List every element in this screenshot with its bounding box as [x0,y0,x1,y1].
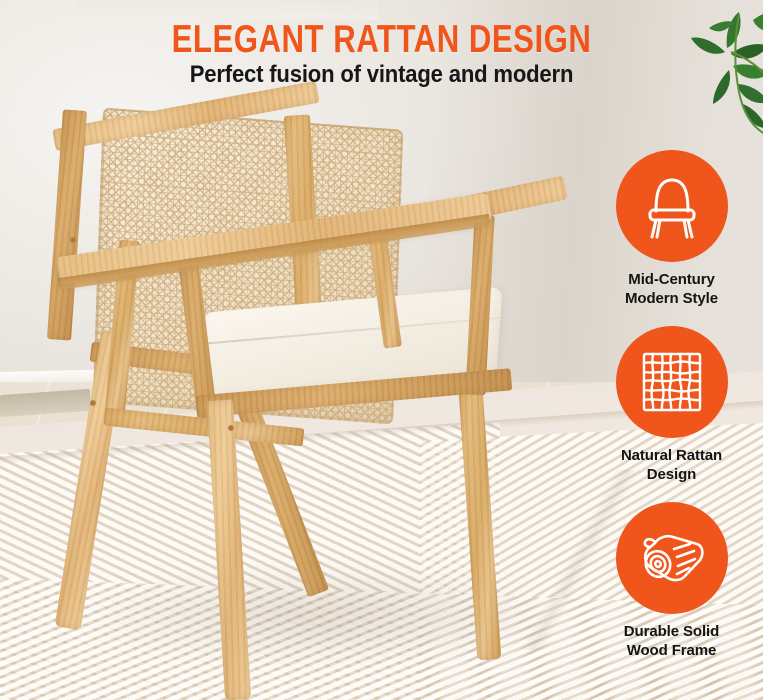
feature-badge-solid-wood[interactable]: Durable Solid Wood Frame [580,502,763,660]
feature-label-line1: Durable Solid [580,623,763,642]
wood-log-icon-circle [616,502,728,614]
feature-label-line2: Wood Frame [580,642,763,661]
feature-label-line1: Mid-Century [580,271,763,290]
feature-badge-natural-rattan[interactable]: Natural Rattan Design [580,326,763,484]
feature-badge-label: Mid-Century Modern Style [580,271,763,308]
front-left-leg-peg [90,400,96,406]
rattan-weave-icon-circle [616,326,728,438]
feature-badge-list: Mid-Century Modern Style [580,150,763,679]
feature-badge-label: Durable Solid Wood Frame [580,623,763,660]
chair-icon [639,171,705,241]
armrest-peg [70,237,76,243]
feature-label-line1: Natural Rattan [580,447,763,466]
front-center-leg-peg [228,425,234,431]
banner-header: ELEGANT RATTAN DESIGN Perfect fusion of … [0,0,763,100]
feature-label-line2: Modern Style [580,290,763,309]
feature-badge-label: Natural Rattan Design [580,447,763,484]
cushion-piping [201,317,500,345]
feature-label-line2: Design [580,466,763,485]
product-banner: ELEGANT RATTAN DESIGN Perfect fusion of … [0,0,763,700]
rattan-weave-icon [639,349,705,415]
rear-right-leg [459,389,502,660]
front-center-leg [207,399,251,700]
wood-log-icon [637,527,707,589]
backrest-left-stile [47,109,87,340]
page-title: ELEGANT RATTAN DESIGN [76,18,686,62]
rattan-accent-chair [0,100,600,700]
chair-icon-circle [616,150,728,262]
feature-badge-mid-century[interactable]: Mid-Century Modern Style [580,150,763,308]
page-subtitle: Perfect fusion of vintage and modern [31,61,733,89]
